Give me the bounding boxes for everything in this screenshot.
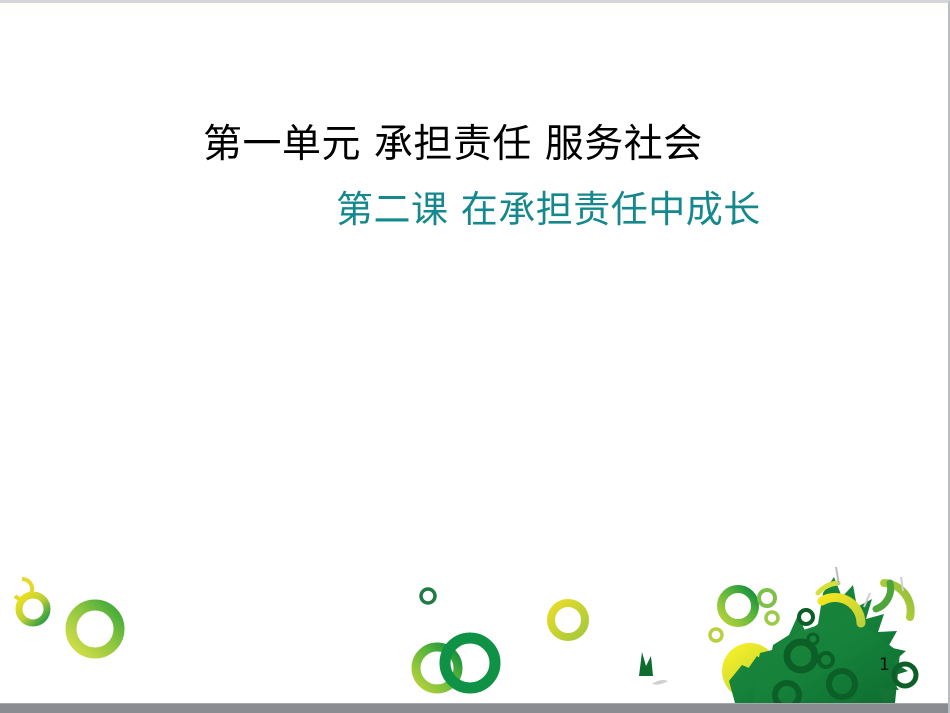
arc-lime-right — [884, 583, 911, 617]
ring-arc-far-left — [15, 579, 32, 599]
ring-leafside-small — [759, 590, 775, 606]
ring-mid-lime — [416, 647, 458, 689]
gradient-ball — [722, 643, 778, 699]
leaf-inner-ring-4 — [799, 610, 813, 624]
top-edge-wash — [0, 3, 948, 17]
bottom-bar — [0, 703, 950, 713]
ring-small-left — [19, 595, 47, 623]
page-number: 1 — [879, 657, 890, 674]
arc-yellow-left-thin — [818, 583, 838, 593]
ring-mid-yellow — [551, 603, 585, 637]
ring-mid-green — [445, 638, 495, 688]
ring-leafside-xtiny — [710, 629, 722, 641]
leaf-inner-ring-7 — [894, 664, 916, 686]
presentation-slide: 第一单元 承担责任 服务社会 第二课 在承担责任中成长 — [0, 0, 950, 713]
arc-green-right — [876, 583, 891, 609]
leaf-whisker-2 — [864, 593, 870, 607]
ring-leafside-tiny — [766, 612, 778, 624]
leaf-inner-ring-2 — [829, 671, 855, 697]
arc-yellow-left — [822, 598, 861, 623]
decoration-graphic — [0, 553, 950, 703]
maple-leaf-body — [752, 615, 900, 703]
maple-leaf — [745, 577, 908, 703]
leaf-inner-ring-1 — [787, 642, 815, 670]
sprout-small-shadow — [652, 680, 668, 685]
leaf-inner-ring-5 — [808, 634, 818, 644]
unit-title: 第一单元 承担责任 服务社会 — [0, 121, 950, 169]
lesson-title: 第二课 在承担责任中成长 — [0, 169, 950, 232]
bottom-decoration — [0, 553, 950, 703]
leaf-inner-ring-6 — [775, 683, 799, 703]
sprout-small — [639, 652, 653, 676]
ring-large-left — [71, 605, 119, 653]
slide-title-block: 第一单元 承担责任 服务社会 第二课 在承担责任中成长 — [0, 121, 950, 232]
leaf-whisker-3 — [901, 577, 903, 591]
maple-leaf-lower-lobe — [729, 649, 800, 703]
leaf-whisker-1 — [836, 567, 839, 585]
ring-leafside-large — [721, 589, 755, 623]
leaf-inner-ring-3 — [819, 653, 833, 667]
ring-tiny-mid — [421, 589, 435, 603]
